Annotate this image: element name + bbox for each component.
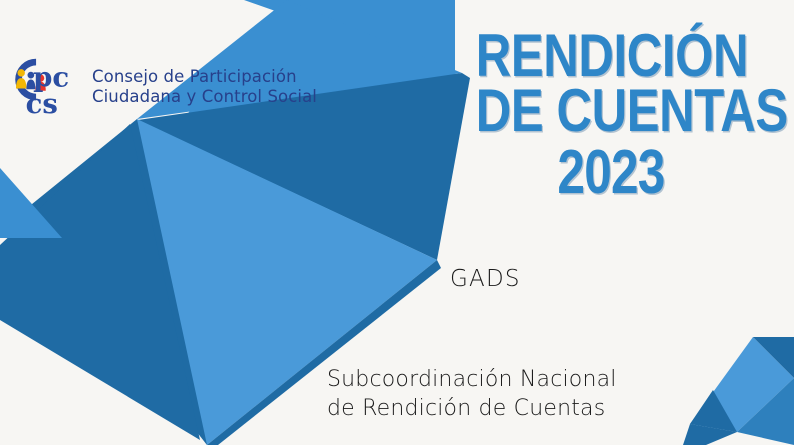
corner-ornament-shadow <box>690 390 737 432</box>
shape-left-shadow-b <box>0 124 200 440</box>
shape-left-shadow <box>0 119 207 445</box>
title-year: 2023 <box>479 142 743 204</box>
corner-ornament-dark-edge <box>737 378 794 445</box>
logo-letter-c-top: C <box>18 59 42 94</box>
corner-ornament-dark-left <box>683 424 737 445</box>
title-line-1: RENDICIÓN <box>476 28 747 83</box>
title-block: RENDICIÓN DE CUENTAS 2023 <box>446 28 776 204</box>
shape-left-edge-wedge <box>0 168 62 238</box>
cpccs-logo-wordmark: Consejo de Participación Ciudadana y Con… <box>92 67 317 107</box>
title-line-2: DE CUENTAS <box>476 83 747 138</box>
corner-ornament-dark-right <box>753 337 794 378</box>
presentation-slide: pc cs C Consejo de Participación Ciudada… <box>0 0 794 445</box>
gads-label: GADS <box>450 266 521 292</box>
corner-ornament-light <box>690 337 794 432</box>
footer-caption: Subcoordinación Nacional de Rendición de… <box>327 365 617 423</box>
cpccs-logo-mark-icon: pc cs C <box>6 55 84 119</box>
cpccs-logo: pc cs C Consejo de Participación Ciudada… <box>6 55 317 119</box>
